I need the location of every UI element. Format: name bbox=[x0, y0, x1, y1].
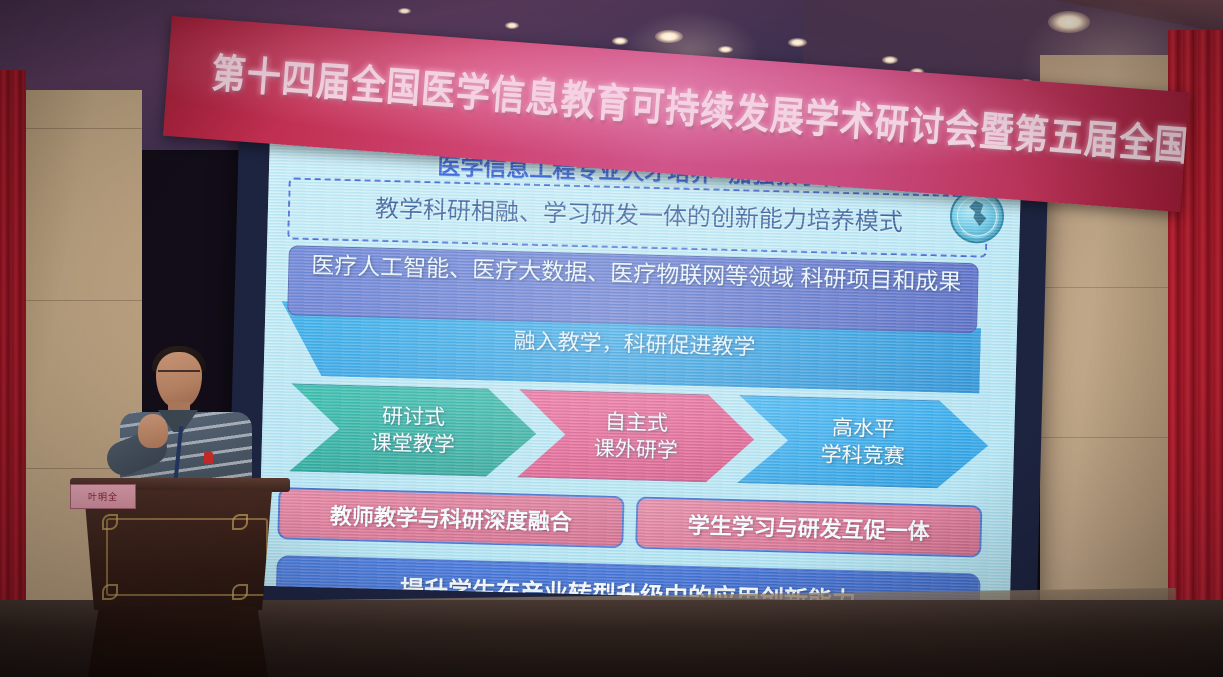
podium-corner-ornament bbox=[232, 514, 248, 530]
chevron-2-line-2: 课外研学 bbox=[593, 435, 678, 464]
pink-box-right: 学生学习与研发互促一体 bbox=[635, 497, 982, 558]
chevron-step-3: 高水平 学科竞赛 bbox=[737, 395, 989, 490]
downlight bbox=[398, 8, 411, 14]
speaker-hand bbox=[138, 414, 168, 448]
podium-base bbox=[88, 606, 268, 677]
downlight bbox=[788, 38, 807, 47]
chevron-step-1: 研讨式 课堂教学 bbox=[289, 383, 537, 477]
indigo-box-line-2: 科研项目和成果 bbox=[800, 265, 962, 295]
curtain-left bbox=[0, 70, 26, 677]
chevron-3-line-2: 学科竞赛 bbox=[820, 441, 905, 470]
pink-box-left: 教师教学与科研深度融合 bbox=[277, 487, 624, 548]
speaker-lapel-pin bbox=[204, 452, 213, 464]
wall-seam bbox=[22, 300, 142, 301]
projection-screen: 医学信息工程专业人才培养--加强教学科研互动 教学科研相融、学习研发一体的创新能… bbox=[258, 141, 1021, 606]
podium-corner-ornament bbox=[232, 584, 248, 600]
wall-seam bbox=[1040, 287, 1170, 288]
podium-corner-ornament bbox=[102, 584, 118, 600]
wall-seam bbox=[1040, 437, 1170, 438]
downlight bbox=[718, 46, 733, 53]
speaker-glasses bbox=[158, 370, 200, 381]
chevron-1-line-1: 研讨式 bbox=[382, 403, 446, 432]
chevron-row: 研讨式 课堂教学 自主式 课外研学 高水平 学科竞赛 bbox=[289, 383, 991, 493]
downlight bbox=[1048, 11, 1090, 33]
downlight bbox=[505, 22, 519, 29]
chevron-3-line-1: 高水平 bbox=[832, 415, 896, 444]
chevron-2-line-1: 自主式 bbox=[605, 409, 669, 438]
downlight bbox=[612, 37, 628, 45]
chevron-1-line-2: 课堂教学 bbox=[371, 430, 456, 459]
speaker-name-card: 叶明全 bbox=[70, 484, 136, 509]
podium-corner-ornament bbox=[102, 514, 118, 530]
downlight bbox=[655, 30, 683, 43]
wall-seam bbox=[22, 128, 142, 129]
chevron-step-2: 自主式 课外研学 bbox=[517, 389, 755, 483]
conference-photo-scene: 医学信息工程专业人才培养--加强教学科研互动 教学科研相融、学习研发一体的创新能… bbox=[0, 0, 1223, 677]
presentation-slide: 医学信息工程专业人才培养--加强教学科研互动 教学科研相融、学习研发一体的创新能… bbox=[258, 141, 1021, 606]
downlight bbox=[882, 56, 898, 64]
